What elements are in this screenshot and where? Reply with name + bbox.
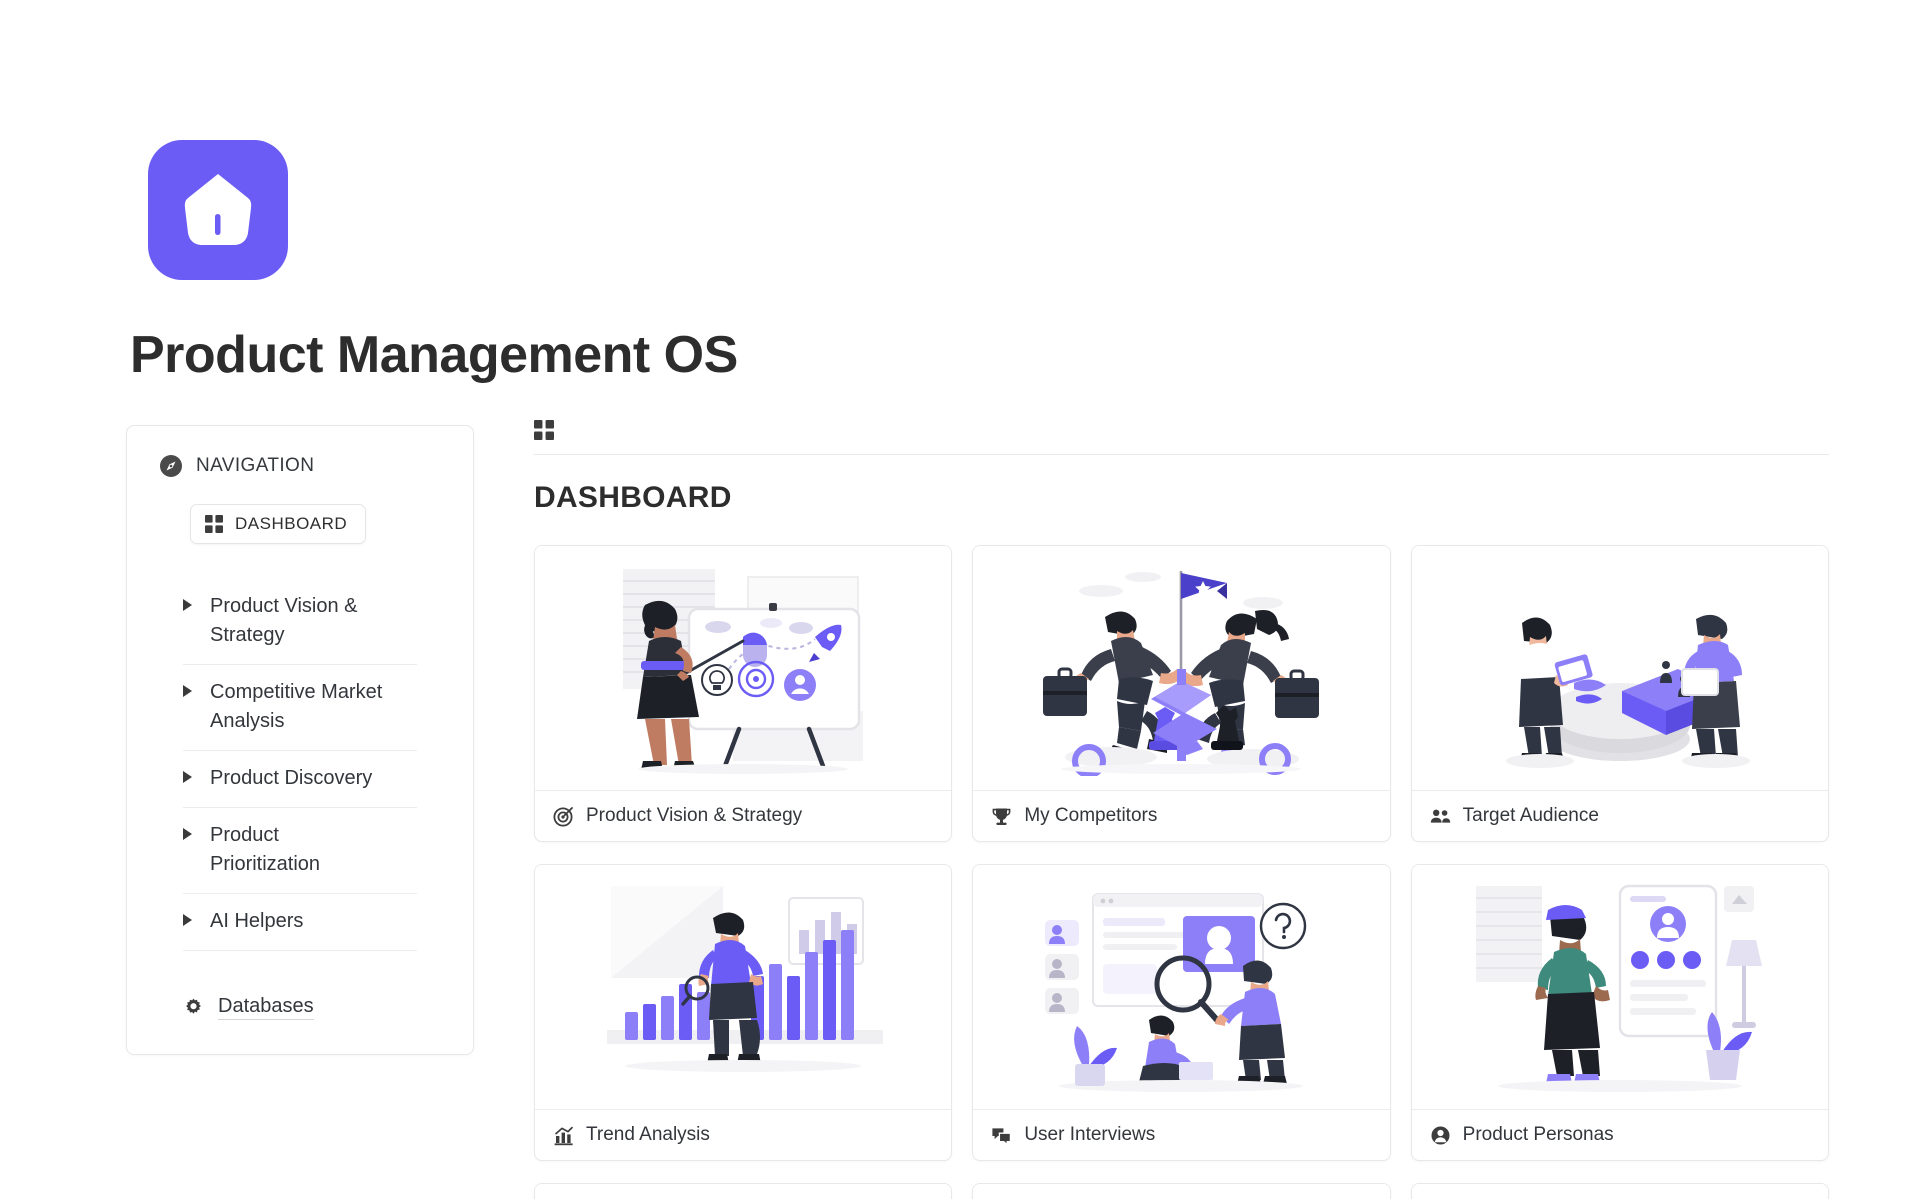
card-illustration xyxy=(1412,1184,1828,1199)
sidebar-item-label: AI Helpers xyxy=(210,907,303,936)
card-illustration xyxy=(1412,546,1828,790)
page-root: Product Management OS NAVIGATION DASHBOA… xyxy=(0,0,1920,1199)
card-label: My Competitors xyxy=(1024,805,1157,827)
card-my-competitors[interactable]: My Competitors xyxy=(972,545,1390,842)
sidebar-item-databases[interactable]: Databases xyxy=(183,995,473,1020)
bar-chart-growth-illustration xyxy=(593,880,893,1095)
sidebar-nav-list: Product Vision & Strategy Competitive Ma… xyxy=(183,588,417,951)
logo-tile xyxy=(148,140,288,280)
dashboard-card-grid: Product Vision & Strategy xyxy=(534,545,1829,1199)
sidebar-item-label: Competitive Market Analysis xyxy=(210,678,390,736)
sidebar-item-product-vision-strategy[interactable]: Product Vision & Strategy xyxy=(183,588,417,665)
whiteboard-presentation-illustration xyxy=(593,561,893,776)
user-research-illustration xyxy=(1031,880,1331,1095)
caret-right-icon[interactable] xyxy=(183,828,192,840)
gear-icon xyxy=(183,997,204,1018)
caret-right-icon[interactable] xyxy=(183,599,192,611)
sidebar-item-ai-helpers[interactable]: AI Helpers xyxy=(183,894,417,951)
card-row3-left[interactable] xyxy=(534,1183,952,1199)
sidebar-header: NAVIGATION xyxy=(127,454,473,478)
caret-right-icon[interactable] xyxy=(183,685,192,697)
card-product-vision-strategy[interactable]: Product Vision & Strategy xyxy=(534,545,952,842)
card-label: Product Personas xyxy=(1463,1124,1614,1146)
card-row3-center[interactable] xyxy=(972,1183,1390,1199)
sidebar: NAVIGATION DASHBOARD Product Vision & St… xyxy=(126,425,474,1055)
target-icon xyxy=(553,806,574,827)
speech-bubbles-icon xyxy=(991,1125,1012,1146)
card-footer: User Interviews xyxy=(973,1109,1389,1160)
card-illustration xyxy=(973,865,1389,1109)
card-label: Trend Analysis xyxy=(586,1124,710,1146)
trend-chart-icon xyxy=(553,1125,574,1146)
sidebar-item-competitive-market-analysis[interactable]: Competitive Market Analysis xyxy=(183,665,417,751)
sidebar-item-label: Product Discovery xyxy=(210,764,372,793)
sidebar-item-product-prioritization[interactable]: Product Prioritization xyxy=(183,808,417,894)
grid-icon[interactable] xyxy=(534,420,554,440)
card-footer: Product Personas xyxy=(1412,1109,1828,1160)
app-logo xyxy=(148,140,288,280)
page-title: Product Management OS xyxy=(130,325,738,385)
card-illustration xyxy=(535,1184,951,1199)
sidebar-item-label: Product Vision & Strategy xyxy=(210,592,390,650)
caret-right-icon[interactable] xyxy=(183,914,192,926)
pie-chart-audience-illustration xyxy=(1470,561,1770,776)
card-footer: Target Audience xyxy=(1412,790,1828,841)
header-divider xyxy=(534,454,1829,455)
card-illustration xyxy=(973,546,1389,790)
caret-right-icon[interactable] xyxy=(183,771,192,783)
sidebar-databases-label: Databases xyxy=(218,995,314,1020)
house-logo-icon xyxy=(182,171,254,249)
sidebar-header-label: NAVIGATION xyxy=(196,455,314,477)
sidebar-dashboard-button[interactable]: DASHBOARD xyxy=(190,504,366,544)
card-footer: My Competitors xyxy=(973,790,1389,841)
sidebar-item-label: Product Prioritization xyxy=(210,821,390,879)
card-label: User Interviews xyxy=(1024,1124,1155,1146)
card-footer: Trend Analysis xyxy=(535,1109,951,1160)
compass-icon xyxy=(159,454,183,478)
persona-profile-illustration xyxy=(1470,880,1770,1095)
trophy-icon xyxy=(991,806,1012,827)
card-product-personas[interactable]: Product Personas xyxy=(1411,864,1829,1161)
card-illustration xyxy=(535,865,951,1109)
card-label: Product Vision & Strategy xyxy=(586,805,802,827)
business-race-flag-illustration xyxy=(1031,561,1331,776)
people-group-icon xyxy=(1430,806,1451,827)
card-illustration xyxy=(1412,865,1828,1109)
section-title: DASHBOARD xyxy=(534,481,1829,515)
card-target-audience[interactable]: Target Audience xyxy=(1411,545,1829,842)
grid-icon xyxy=(205,515,223,533)
card-user-interviews[interactable]: User Interviews xyxy=(972,864,1390,1161)
card-illustration xyxy=(973,1184,1389,1199)
person-circle-icon xyxy=(1430,1125,1451,1146)
sidebar-item-product-discovery[interactable]: Product Discovery xyxy=(183,751,417,808)
card-trend-analysis[interactable]: Trend Analysis xyxy=(534,864,952,1161)
main-content: DASHBOARD xyxy=(534,420,1829,1199)
card-row3-right[interactable] xyxy=(1411,1183,1829,1199)
card-label: Target Audience xyxy=(1463,805,1599,827)
card-illustration xyxy=(535,546,951,790)
card-footer: Product Vision & Strategy xyxy=(535,790,951,841)
sidebar-dashboard-label: DASHBOARD xyxy=(235,514,347,534)
